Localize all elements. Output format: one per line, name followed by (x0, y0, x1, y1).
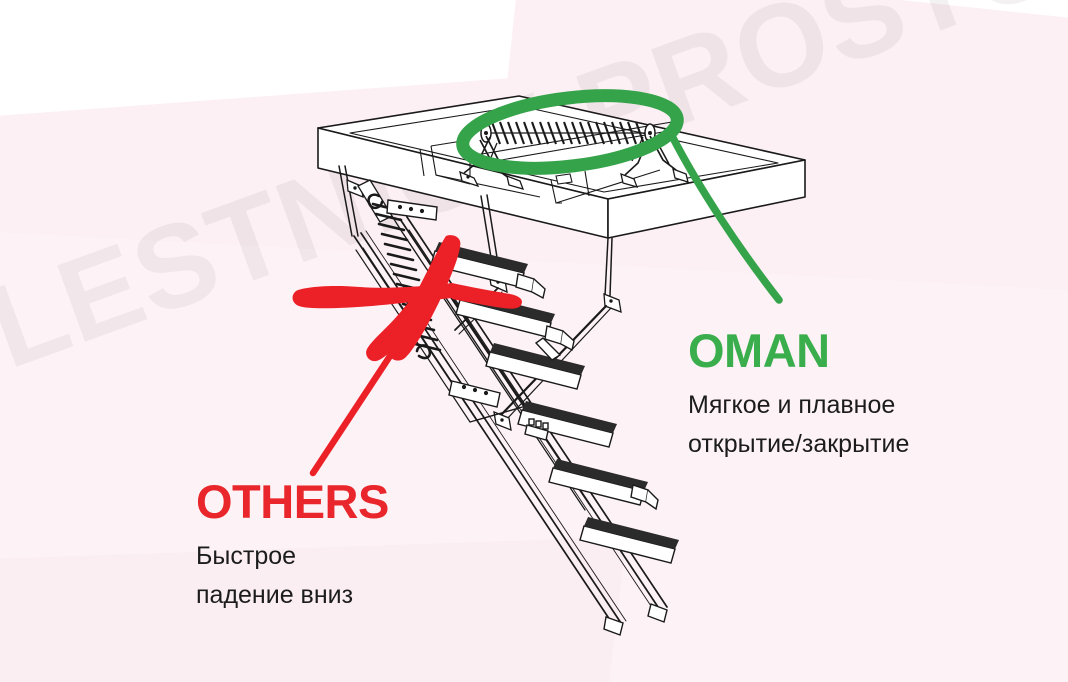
ladder-step (580, 517, 679, 563)
ladder-step (486, 343, 585, 389)
oman-brand-title: OMAN (688, 327, 1018, 374)
others-brand-title: OTHERS (196, 478, 496, 525)
oman-description-line-1: Мягкое и плавное (688, 386, 1018, 425)
comparison-infographic: LESTNICY-PROSTO.RU (0, 0, 1068, 682)
oman-description-line-2: открытие/закрытие (688, 425, 1018, 464)
label-oman: OMAN Мягкое и плавное открытие/закрытие (688, 327, 1018, 464)
oman-description: Мягкое и плавное открытие/закрытие (688, 386, 1018, 464)
others-description-line-2: падение вниз (196, 576, 496, 615)
spring-anchor-plate (387, 200, 437, 220)
others-description: Быстрое падение вниз (196, 537, 496, 615)
others-description-line-1: Быстрое (196, 537, 496, 576)
label-others: OTHERS Быстрое падение вниз (196, 478, 496, 615)
